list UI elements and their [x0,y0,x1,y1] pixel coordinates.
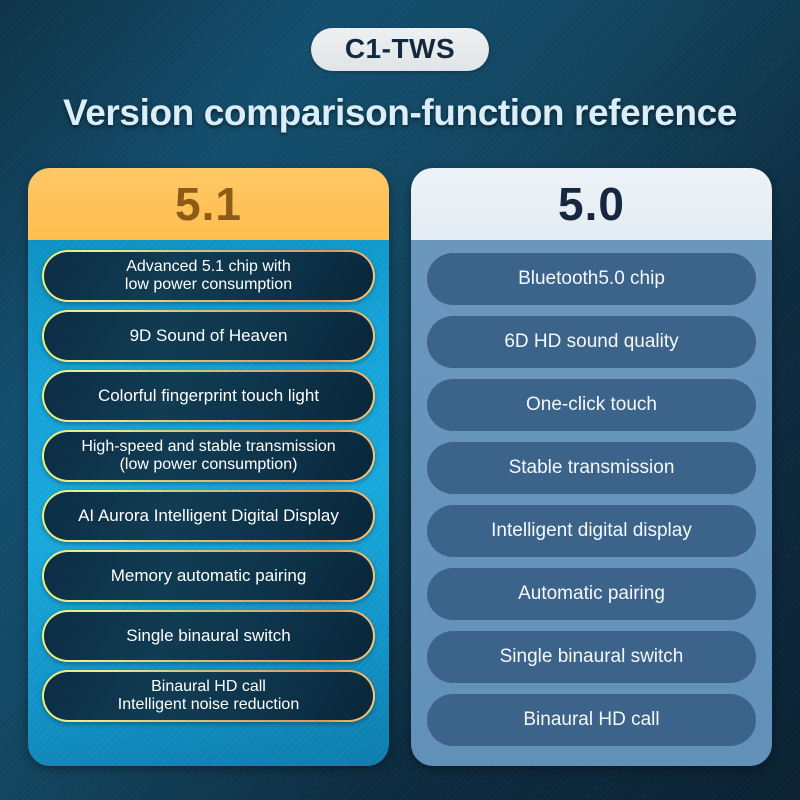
page-root: { "header": { "badge_label": "C1-TWS", "… [0,0,800,800]
feature-pill: Binaural HD call [427,694,756,746]
page-title: Version comparison-function reference [0,92,800,134]
feature-label: AI Aurora Intelligent Digital Display [44,492,373,540]
feature-label: Colorful fingerprint touch light [44,372,373,420]
feature-pill: Binaural HD callIntelligent noise reduct… [42,670,375,722]
version-card-5-1: 5.1 Advanced 5.1 chip withlow power cons… [28,168,389,766]
feature-pill: 6D HD sound quality [427,316,756,368]
feature-list-5-0: Bluetooth5.0 chip 6D HD sound quality On… [411,240,772,766]
feature-pill: Bluetooth5.0 chip [427,253,756,305]
comparison-columns: 5.1 Advanced 5.1 chip withlow power cons… [28,168,772,768]
product-badge-container: C1-TWS [0,28,800,71]
feature-label: High-speed and stable transmission(low p… [44,432,373,480]
feature-label: Advanced 5.1 chip withlow power consumpt… [44,252,373,300]
feature-pill: Advanced 5.1 chip withlow power consumpt… [42,250,375,302]
version-header-5-1: 5.1 [28,168,389,240]
feature-pill: High-speed and stable transmission(low p… [42,430,375,482]
product-badge: C1-TWS [311,28,489,71]
feature-label: 9D Sound of Heaven [44,312,373,360]
feature-pill: Intelligent digital display [427,505,756,557]
feature-pill: Stable transmission [427,442,756,494]
feature-pill: Automatic pairing [427,568,756,620]
version-header-5-0: 5.0 [411,168,772,240]
feature-pill: Colorful fingerprint touch light [42,370,375,422]
feature-label: Binaural HD callIntelligent noise reduct… [44,672,373,720]
feature-pill: Single binaural switch [427,631,756,683]
feature-list-5-1: Advanced 5.1 chip withlow power consumpt… [28,240,389,766]
feature-pill: Single binaural switch [42,610,375,662]
feature-pill: Memory automatic pairing [42,550,375,602]
feature-pill: 9D Sound of Heaven [42,310,375,362]
feature-label: Memory automatic pairing [44,552,373,600]
feature-pill: AI Aurora Intelligent Digital Display [42,490,375,542]
feature-label: Single binaural switch [44,612,373,660]
version-card-5-0: 5.0 Bluetooth5.0 chip 6D HD sound qualit… [411,168,772,766]
feature-pill: One-click touch [427,379,756,431]
